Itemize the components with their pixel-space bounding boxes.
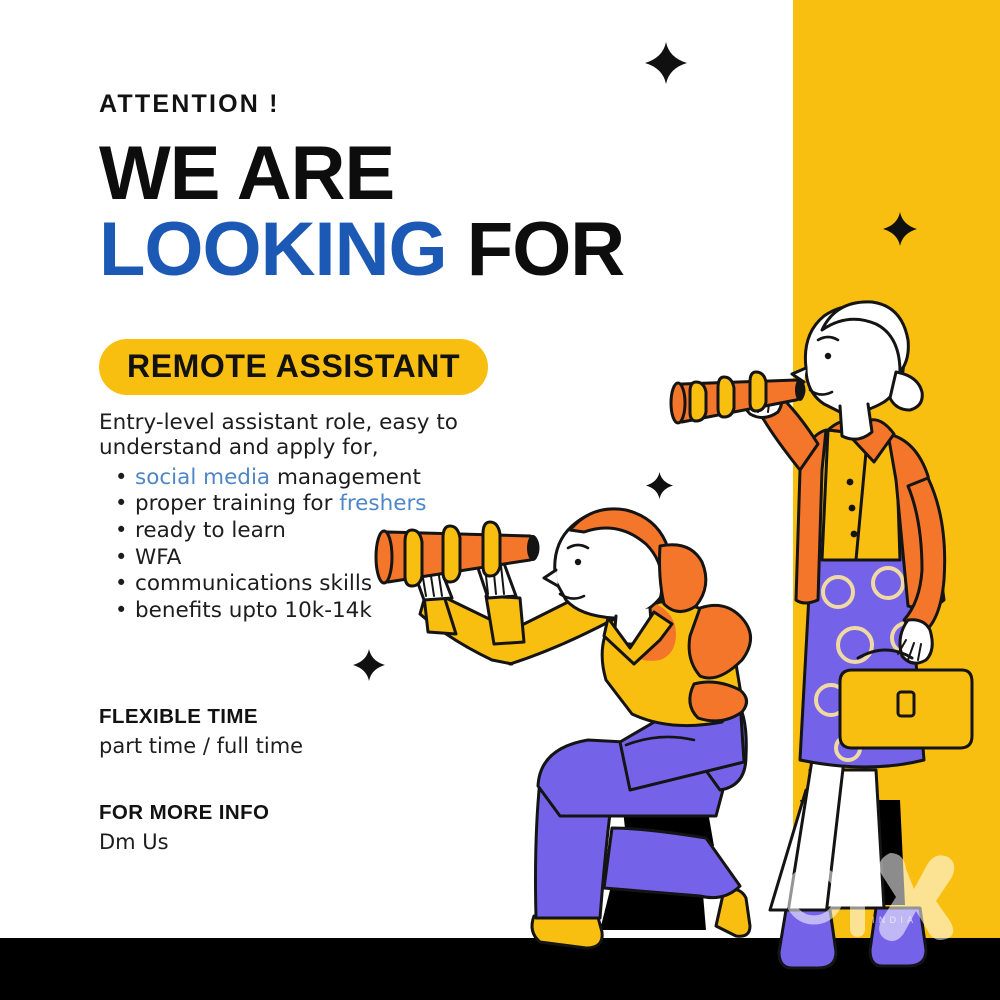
sparkle-icon xyxy=(883,212,917,246)
flexible-time-block: FLEXIBLE TIME part time / full time xyxy=(99,707,303,757)
sparkle-icon xyxy=(645,42,687,84)
bullet-pre: communications skills xyxy=(135,571,372,596)
more-info-title: FOR MORE INFO xyxy=(99,803,269,824)
eyebrow-text: ATTENTION ! xyxy=(99,92,699,117)
bullet-pre: WFA xyxy=(135,545,181,570)
sparkle-icon xyxy=(646,472,673,499)
description-line-1: Entry-level assistant role, easy to xyxy=(99,410,458,435)
description-block: Entry-level assistant role, easy to unde… xyxy=(99,410,519,625)
job-poster: ATTENTION ! WE ARE LOOKING FOR REMOTE AS… xyxy=(0,0,1000,1000)
list-item: ready to learn xyxy=(135,518,519,545)
headline-line-1: WE ARE xyxy=(99,131,394,216)
more-info-block: FOR MORE INFO Dm Us xyxy=(99,803,269,853)
bottom-black-bar xyxy=(0,938,1000,1000)
headline-highlight: LOOKING xyxy=(99,207,447,292)
bullet-post: management xyxy=(270,465,421,490)
bullet-pre: proper training for xyxy=(135,491,339,516)
more-info-value: Dm Us xyxy=(99,832,269,853)
watermark-india-label: INDIA xyxy=(872,916,917,926)
headline-block: ATTENTION ! WE ARE LOOKING FOR xyxy=(99,92,699,285)
list-item: communications skills xyxy=(135,571,519,598)
headline-line-2: LOOKING FOR xyxy=(99,215,699,285)
list-item: WFA xyxy=(135,545,519,572)
role-badge-label: REMOTE ASSISTANT xyxy=(127,348,460,384)
role-badge: REMOTE ASSISTANT xyxy=(99,339,488,395)
requirements-list: social media management proper training … xyxy=(99,465,519,625)
yellow-background-panel xyxy=(793,0,1000,938)
bullet-accent: social media xyxy=(135,465,270,490)
flexible-time-title: FLEXIBLE TIME xyxy=(99,707,303,728)
list-item: social media management xyxy=(135,465,519,492)
bullet-accent: freshers xyxy=(339,491,426,516)
bullet-pre: ready to learn xyxy=(135,518,286,543)
page-title: WE ARE LOOKING FOR xyxy=(99,139,699,285)
headline-rest: FOR xyxy=(447,207,625,292)
list-item: benefits upto 10k-14k xyxy=(135,598,519,625)
description-line-2: understand and apply for, xyxy=(99,435,379,460)
sparkle-icon xyxy=(353,649,385,681)
bullet-pre: benefits upto 10k-14k xyxy=(135,598,372,623)
flexible-time-value: part time / full time xyxy=(99,736,303,757)
description-lead: Entry-level assistant role, easy to unde… xyxy=(99,410,519,461)
list-item: proper training for freshers xyxy=(135,491,519,518)
